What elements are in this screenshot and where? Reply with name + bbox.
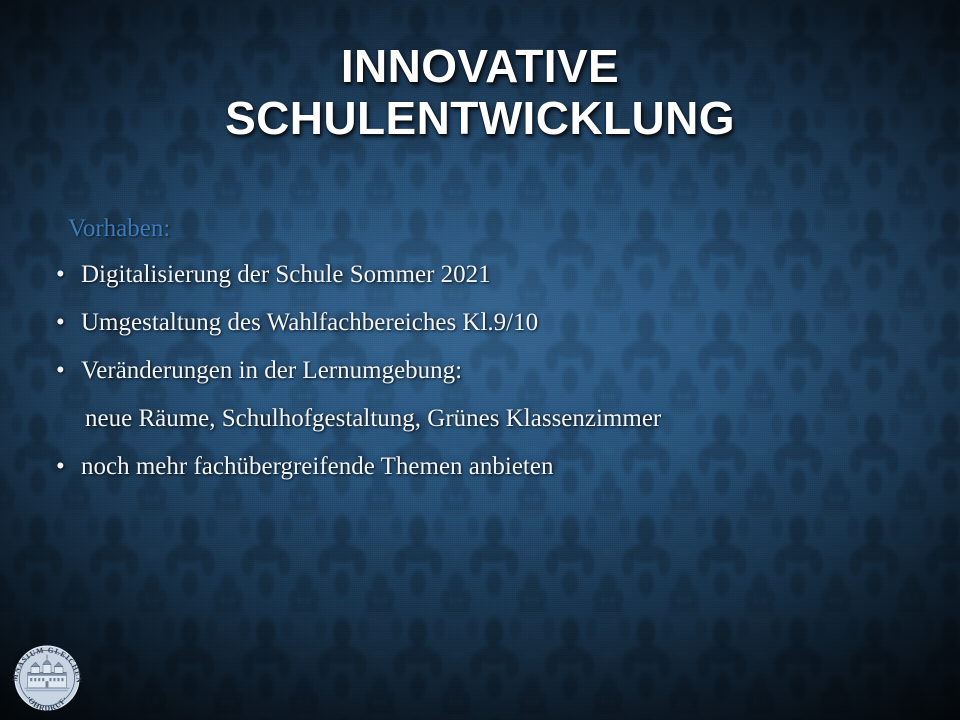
list-item-text: neue Räume, Schulhofgestaltung, Grünes K… [85,405,661,432]
list-item: • Digitalisierung der Schule Sommer 2021 [0,260,960,290]
bullet-marker-icon: • [56,260,65,290]
slide-title-line-2: SCHULENTWICKLUNG [60,92,900,144]
presentation-slide: INNOVATIVE SCHULENTWICKLUNG Vorhaben: • … [0,0,960,720]
list-item: • noch mehr fachübergreifende Themen anb… [0,452,960,482]
bullet-marker-icon: • [56,308,65,338]
slide-body: Vorhaben: • Digitalisierung der Schule S… [0,214,960,500]
list-item-text: Veränderungen in der Lernumgebung: [81,357,462,384]
slide-content: INNOVATIVE SCHULENTWICKLUNG Vorhaben: • … [0,0,960,720]
bullet-marker-icon: • [56,452,65,482]
subheading-vorhaben: Vorhaben: [68,214,960,244]
list-item: • Umgestaltung des Wahlfachbereiches Kl.… [0,308,960,338]
slide-title-line-1: INNOVATIVE [60,40,900,92]
slide-title: INNOVATIVE SCHULENTWICKLUNG [60,40,900,144]
list-item-text: Digitalisierung der Schule Sommer 2021 [81,261,491,288]
list-item-text: noch mehr fachübergreifende Themen anbie… [81,453,553,480]
bullet-list: • Digitalisierung der Schule Sommer 2021… [0,260,960,482]
list-item-text: Umgestaltung des Wahlfachbereiches Kl.9/… [81,309,538,336]
school-seal-logo: GYMNASIUM GLEICHENSE ·OHRDRUF· [7,638,87,718]
list-item: • Veränderungen in der Lernumgebung: [0,356,960,386]
bullet-marker-icon: • [56,356,65,386]
list-item-continuation: neue Räume, Schulhofgestaltung, Grünes K… [0,404,960,434]
